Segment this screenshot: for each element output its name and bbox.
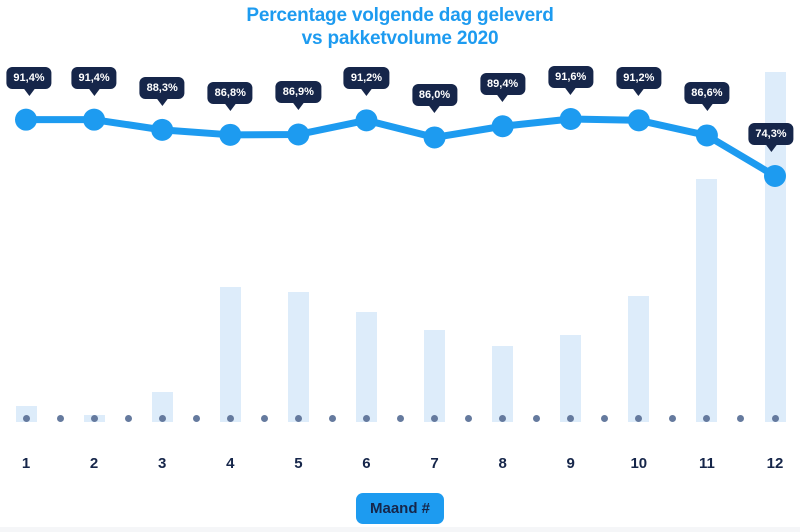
value-label-month-12: 74,3% [748,123,793,145]
x-axis-label-badge: Maand # [356,493,444,524]
value-label-month-9: 91,6% [548,66,593,88]
x-tick-7: 7 [430,455,438,472]
line-marker-month-12[interactable] [764,165,786,187]
x-tick-10: 10 [630,455,647,472]
x-tick-12: 12 [767,455,784,472]
value-label-month-6: 91,2% [344,67,389,89]
value-label-month-3: 88,3% [140,77,185,99]
line-marker-month-6[interactable] [355,109,377,131]
x-tick-1: 1 [22,455,30,472]
line-marker-month-1[interactable] [15,109,37,131]
x-tick-8: 8 [498,455,506,472]
value-label-month-5: 86,9% [276,81,321,103]
line-marker-month-3[interactable] [151,119,173,141]
bottom-strip [0,527,800,532]
line-marker-month-9[interactable] [560,108,582,130]
value-label-month-11: 86,6% [684,82,729,104]
x-tick-3: 3 [158,455,166,472]
value-label-month-10: 91,2% [616,67,661,89]
line-marker-month-7[interactable] [424,126,446,148]
value-label-month-8: 89,4% [480,73,525,95]
x-tick-5: 5 [294,455,302,472]
x-tick-2: 2 [90,455,98,472]
value-label-month-4: 86,8% [208,82,253,104]
x-tick-9: 9 [567,455,575,472]
line-marker-month-4[interactable] [219,124,241,146]
line-marker-month-8[interactable] [492,115,514,137]
line-marker-month-2[interactable] [83,109,105,131]
value-label-month-7: 86,0% [412,84,457,106]
line-series-layer [0,0,800,440]
line-marker-month-5[interactable] [287,123,309,145]
plot-area: 91,4%91,4%88,3%86,8%86,9%91,2%86,0%89,4%… [0,0,800,440]
line-marker-month-11[interactable] [696,124,718,146]
value-label-month-1: 91,4% [6,67,51,89]
line-marker-month-10[interactable] [628,109,650,131]
value-label-month-2: 91,4% [71,67,116,89]
line-markers-layer [15,108,786,187]
x-tick-4: 4 [226,455,234,472]
x-tick-11: 11 [699,455,715,472]
line-path [26,119,775,176]
chart-container: Percentage volgende dag geleverd vs pakk… [0,0,800,532]
x-tick-6: 6 [362,455,370,472]
